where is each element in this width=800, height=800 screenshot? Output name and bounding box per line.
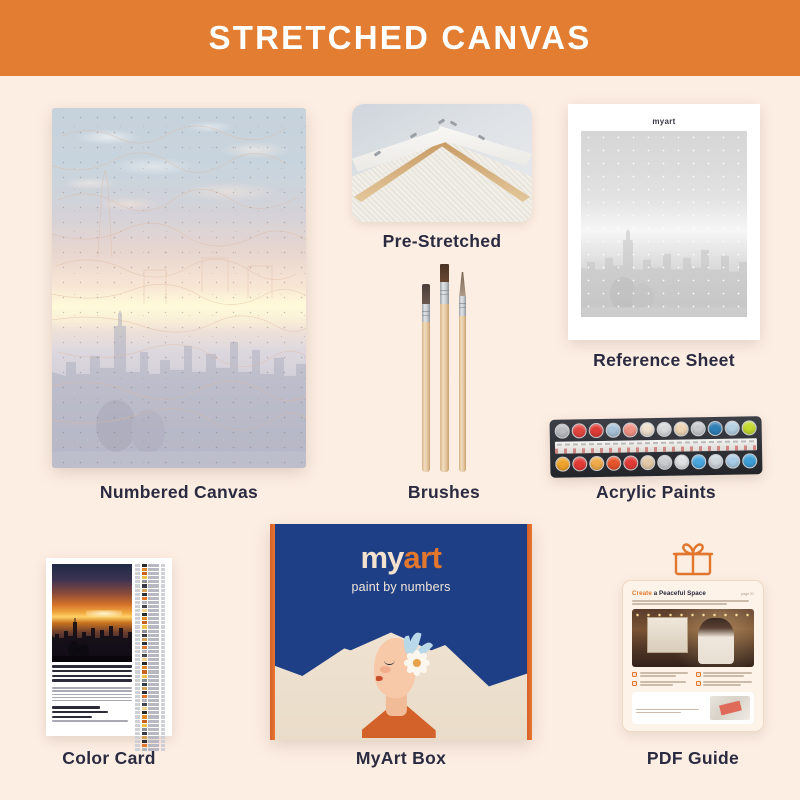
staple-icon bbox=[438, 118, 446, 124]
legend-row bbox=[135, 687, 166, 690]
paint-pot bbox=[623, 422, 638, 437]
pdf-guide-footer bbox=[632, 692, 754, 724]
pdf-page-number: page 01 bbox=[741, 592, 754, 596]
myart-logo: myart bbox=[581, 117, 747, 126]
paint-pot bbox=[691, 454, 706, 469]
paint-pot bbox=[572, 423, 587, 438]
legend-row bbox=[135, 666, 166, 669]
legend-row bbox=[135, 679, 166, 682]
paint-pot bbox=[606, 456, 621, 471]
legend-row bbox=[135, 740, 166, 743]
paint-pot bbox=[708, 454, 723, 469]
color-card-left-column bbox=[52, 564, 132, 730]
box-edge-right bbox=[527, 524, 532, 740]
woman-cheek bbox=[380, 666, 391, 673]
pdf-footer-heading bbox=[636, 702, 706, 707]
reference-sheet-image: myart bbox=[568, 104, 760, 340]
label-pdf-guide: PDF Guide bbox=[622, 748, 764, 769]
legend-row bbox=[135, 630, 166, 633]
legend-row bbox=[135, 601, 166, 604]
brush-handle bbox=[422, 322, 430, 472]
page-header: STRETCHED CANVAS bbox=[0, 0, 800, 76]
paint-pot bbox=[691, 421, 706, 436]
paint-label-strip bbox=[555, 438, 757, 454]
brush-ferrule bbox=[459, 296, 466, 318]
legend-row bbox=[135, 699, 166, 702]
pdf-guide-image: Create a Peaceful Space page 01 bbox=[622, 580, 764, 732]
pdf-guide-photo bbox=[632, 609, 754, 667]
legend-row bbox=[135, 634, 166, 637]
legend-row bbox=[135, 605, 166, 608]
paint-pot bbox=[725, 421, 740, 436]
tip-item bbox=[696, 681, 755, 687]
legend-row bbox=[135, 728, 166, 731]
legend-row bbox=[135, 572, 166, 575]
label-acrylic-paints: Acrylic Paints bbox=[546, 482, 766, 503]
numbered-canvas-image bbox=[52, 108, 306, 468]
box-logo: myart bbox=[275, 540, 527, 576]
legend-row bbox=[135, 589, 166, 592]
brush-handle bbox=[440, 304, 449, 472]
legend-row bbox=[135, 658, 166, 661]
label-myart-box: MyArt Box bbox=[270, 748, 532, 769]
label-numbered-canvas: Numbered Canvas bbox=[52, 482, 306, 503]
legend-row bbox=[135, 654, 166, 657]
label-pre-stretched: Pre-Stretched bbox=[352, 231, 532, 252]
string-lights bbox=[632, 613, 754, 617]
color-card-skyline bbox=[52, 618, 132, 662]
reference-texture bbox=[581, 131, 747, 317]
paint-pot bbox=[589, 423, 604, 438]
legend-row bbox=[135, 691, 166, 694]
legend-row bbox=[135, 662, 166, 665]
box-front-panel: myart paint by numbers bbox=[275, 524, 527, 740]
pdf-guide-title: Create a Peaceful Space bbox=[632, 590, 706, 597]
paint-pot bbox=[555, 456, 570, 471]
legend-row bbox=[135, 584, 166, 587]
canvas-number-dots bbox=[52, 108, 306, 468]
color-card-instructions bbox=[52, 662, 132, 730]
pre-stretched-image bbox=[352, 104, 532, 222]
brush-item bbox=[422, 284, 430, 472]
legend-row bbox=[135, 625, 166, 628]
page-title: STRETCHED CANVAS bbox=[209, 19, 592, 57]
legend-row bbox=[135, 597, 166, 600]
paint-pot bbox=[708, 421, 723, 436]
legend-row bbox=[135, 670, 166, 673]
legend-row bbox=[135, 703, 166, 706]
reference-artwork bbox=[581, 131, 747, 317]
legend-row bbox=[135, 609, 166, 612]
color-card-artwork bbox=[52, 564, 132, 662]
gift-icon bbox=[672, 540, 714, 576]
legend-row bbox=[135, 675, 166, 678]
tip-bullet-icon bbox=[632, 672, 637, 677]
legend-row bbox=[135, 650, 166, 653]
paint-pot bbox=[606, 423, 621, 438]
paint-row-top bbox=[555, 420, 757, 441]
legend-row bbox=[135, 568, 166, 571]
pdf-title-rest: a Peaceful Space bbox=[652, 590, 706, 597]
legend-row bbox=[135, 724, 166, 727]
painting-woman bbox=[698, 618, 735, 663]
easel-canvas bbox=[647, 617, 688, 653]
legend-row bbox=[135, 576, 166, 579]
paint-pot bbox=[742, 453, 757, 468]
legend-row bbox=[135, 744, 166, 747]
tip-item bbox=[696, 672, 755, 678]
myart-box-image: myart paint by numbers bbox=[270, 524, 532, 740]
paint-pot bbox=[623, 455, 638, 470]
legend-row bbox=[135, 613, 166, 616]
acrylic-paints-tray bbox=[550, 416, 763, 478]
legend-row bbox=[135, 720, 166, 723]
pdf-guide-header: Create a Peaceful Space page 01 bbox=[632, 590, 754, 597]
legend-row bbox=[135, 736, 166, 739]
paint-pot bbox=[657, 422, 672, 437]
legend-row bbox=[135, 715, 166, 718]
paint-pot bbox=[640, 422, 655, 437]
brush-bristles bbox=[440, 264, 449, 284]
logo-my-text: my bbox=[361, 540, 404, 575]
legend-row bbox=[135, 646, 166, 649]
box-illustration bbox=[275, 612, 527, 740]
woman-lips bbox=[376, 676, 383, 681]
pdf-footer-text bbox=[636, 702, 706, 715]
legend-row bbox=[135, 711, 166, 714]
legend-row bbox=[135, 638, 166, 641]
tip-bullet-icon bbox=[696, 672, 701, 677]
paint-pot bbox=[657, 455, 672, 470]
legend-row bbox=[135, 642, 166, 645]
paint-pot bbox=[572, 456, 587, 471]
legend-row bbox=[135, 580, 166, 583]
paint-pot bbox=[589, 456, 604, 471]
legend-row bbox=[135, 593, 166, 596]
brush-handle bbox=[459, 316, 466, 472]
woman-portrait bbox=[364, 630, 428, 738]
paint-pot bbox=[674, 454, 689, 469]
label-reference-sheet: Reference Sheet bbox=[568, 350, 760, 371]
brushes-image bbox=[404, 262, 484, 472]
paint-pot bbox=[555, 424, 570, 439]
label-brushes: Brushes bbox=[384, 482, 504, 503]
box-tagline: paint by numbers bbox=[275, 580, 527, 594]
paint-pot bbox=[674, 421, 689, 436]
brush-item bbox=[459, 272, 466, 472]
legend-row bbox=[135, 707, 166, 710]
legend-row bbox=[135, 564, 166, 567]
color-card-legend bbox=[132, 564, 166, 730]
brush-bristles bbox=[422, 284, 430, 306]
brush-item bbox=[440, 264, 449, 472]
pdf-title-accent: Create bbox=[632, 590, 652, 597]
color-card-sun bbox=[86, 610, 123, 617]
legend-row bbox=[135, 683, 166, 686]
legend-row bbox=[135, 695, 166, 698]
logo-art-text: art bbox=[403, 540, 441, 575]
color-card-image bbox=[46, 558, 172, 736]
paint-pot bbox=[742, 420, 757, 435]
daisy-flower-icon bbox=[402, 648, 432, 678]
tip-item bbox=[632, 672, 691, 678]
tip-item bbox=[632, 681, 691, 687]
staple-icon bbox=[450, 120, 458, 126]
paint-pot bbox=[725, 454, 740, 469]
brush-bristles bbox=[459, 272, 466, 298]
tip-bullet-icon bbox=[696, 681, 701, 686]
legend-row bbox=[135, 732, 166, 735]
pdf-guide-tips bbox=[632, 672, 754, 687]
paint-pot bbox=[640, 455, 655, 470]
label-color-card: Color Card bbox=[46, 748, 172, 769]
tip-bullet-icon bbox=[632, 681, 637, 686]
pdf-footer-thumbnail bbox=[710, 696, 750, 720]
paint-row-bottom bbox=[555, 453, 757, 474]
legend-row bbox=[135, 617, 166, 620]
pdf-guide-subtext bbox=[632, 600, 754, 605]
legend-row bbox=[135, 621, 166, 624]
